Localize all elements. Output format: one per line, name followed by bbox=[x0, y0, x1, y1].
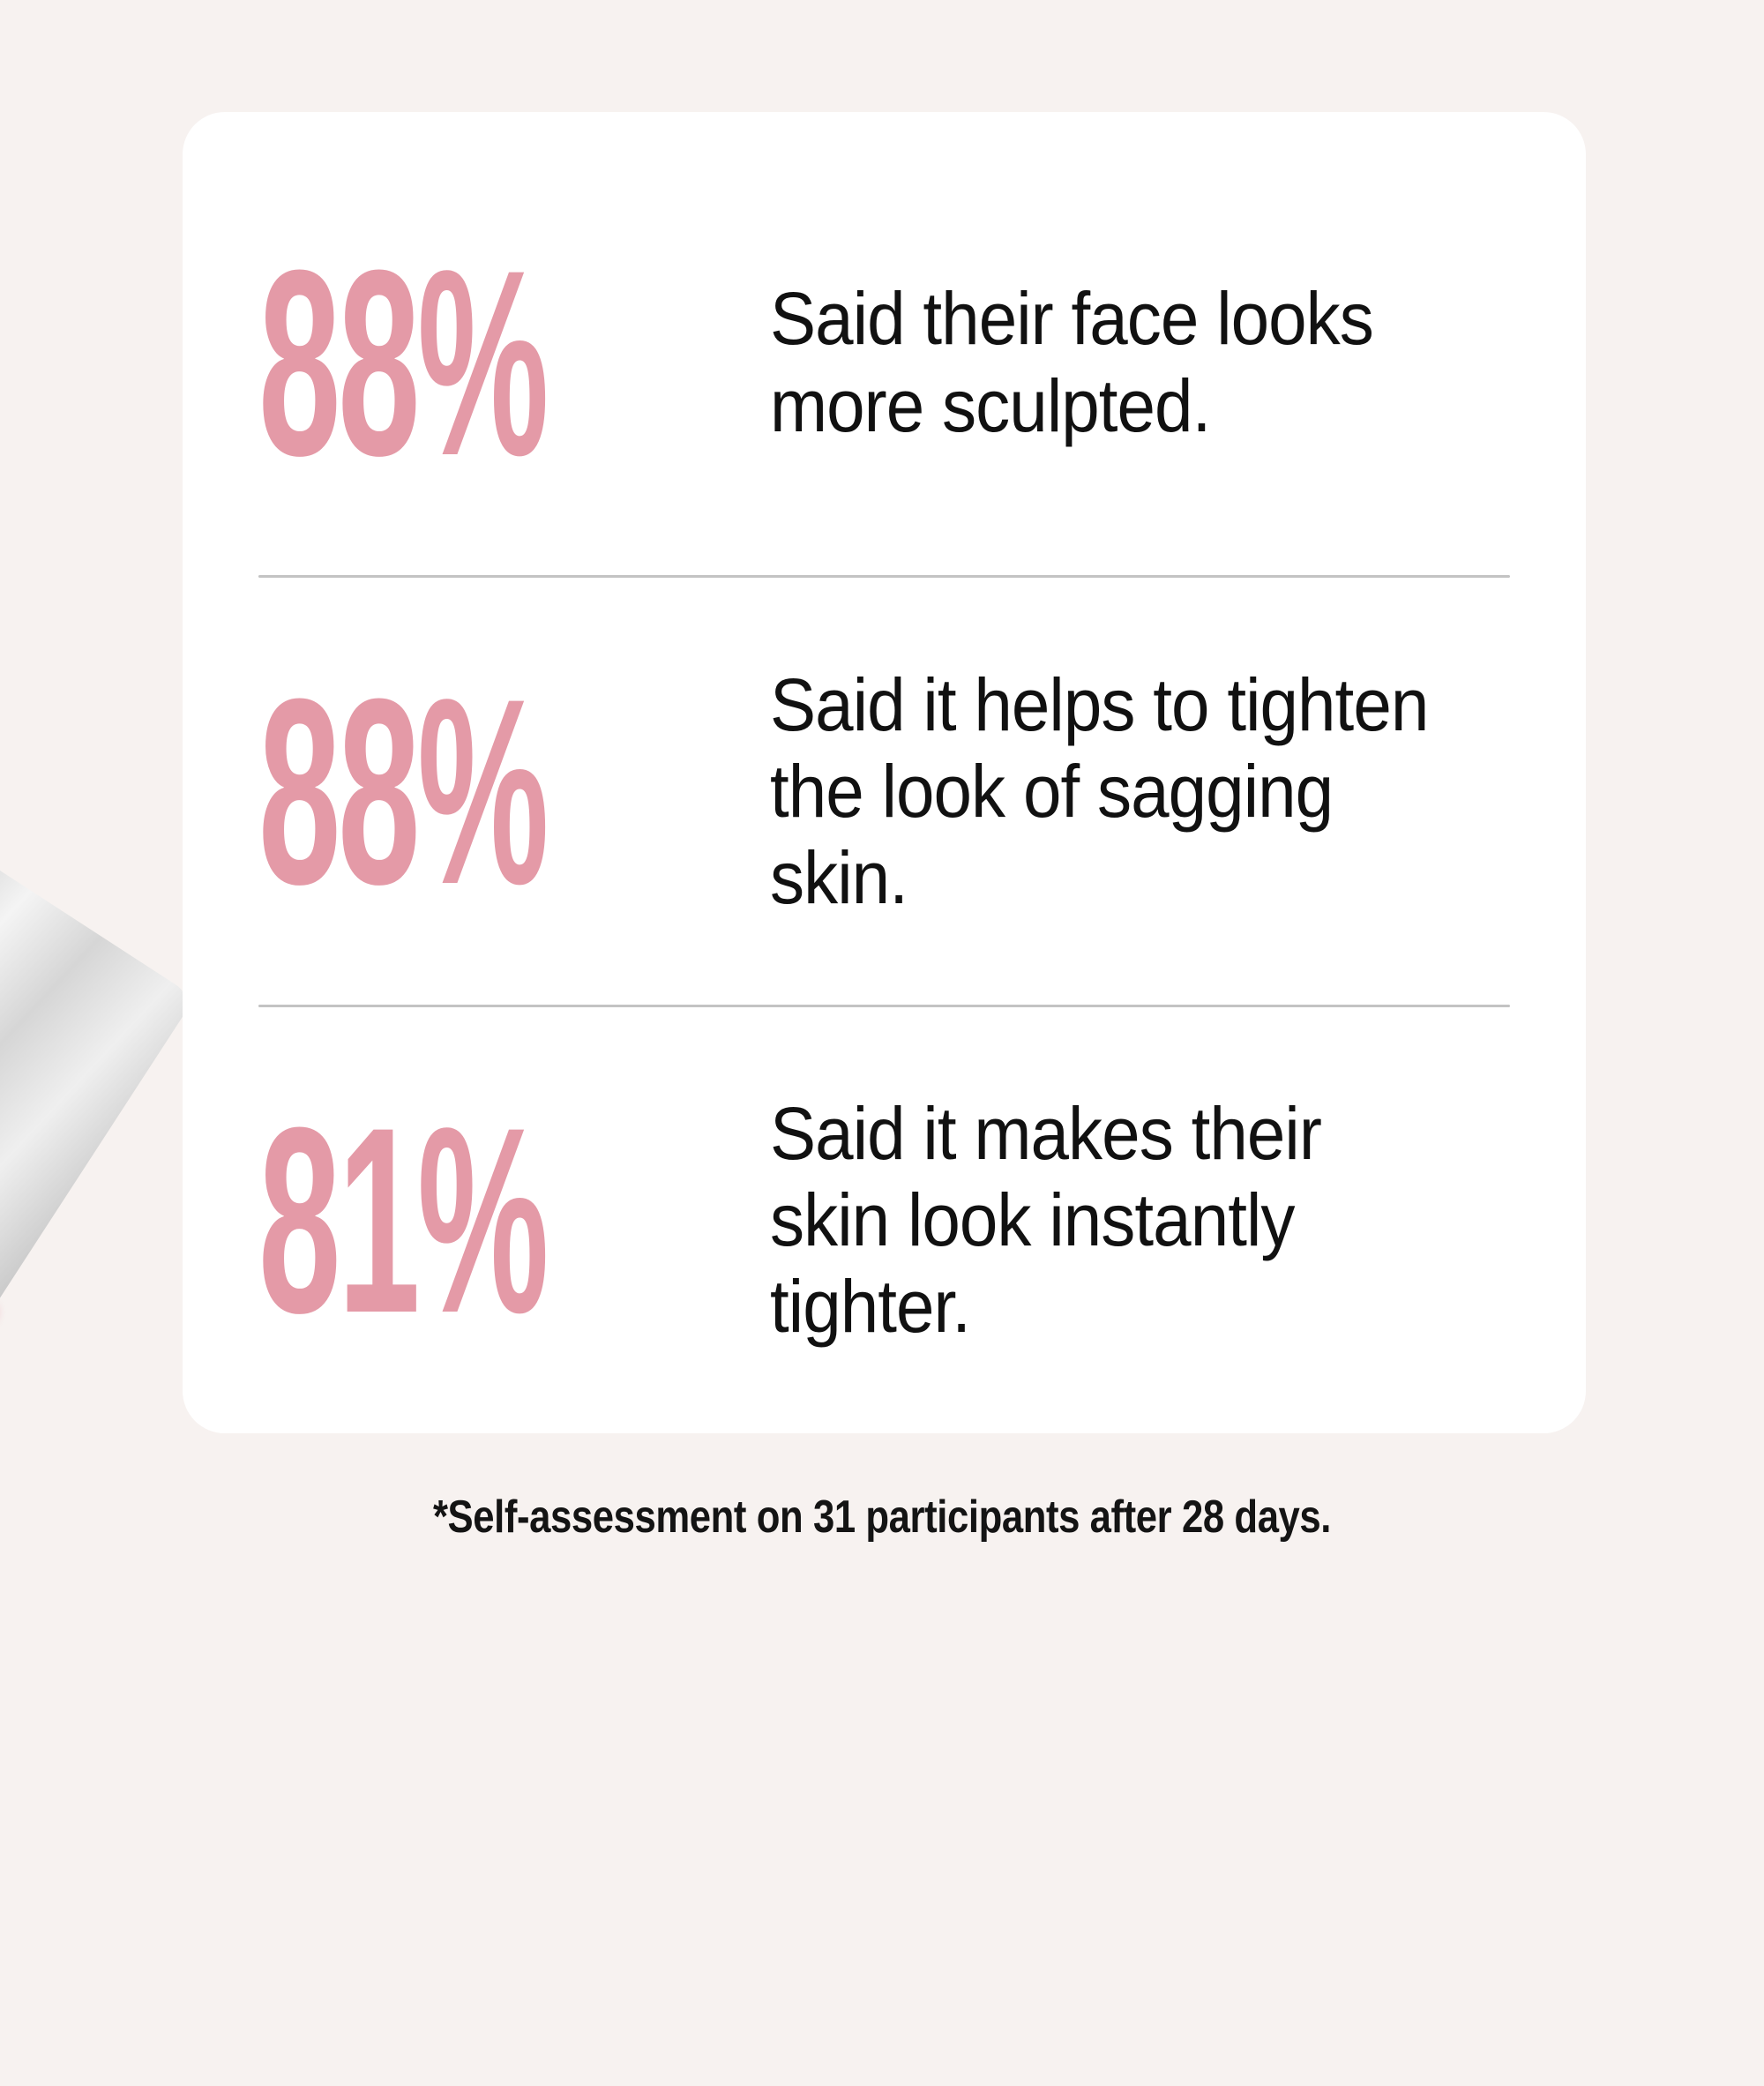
bottle-cap bbox=[0, 748, 195, 1316]
stat-row: 88% Said it helps to tighten the look of… bbox=[258, 578, 1510, 1004]
stat-claim: Said their face looks more sculpted. bbox=[770, 275, 1458, 449]
stat-percent: 88% bbox=[258, 688, 515, 894]
stat-percent: 88% bbox=[258, 259, 515, 466]
stat-claim: Said it makes their skin look instantly … bbox=[770, 1090, 1458, 1350]
bottle-collar bbox=[0, 1049, 4, 1350]
stat-percent: 81% bbox=[258, 1117, 515, 1323]
stats-card: 88% Said their face looks more sculpted.… bbox=[183, 112, 1586, 1433]
stat-row: 88% Said their face looks more sculpted. bbox=[258, 112, 1510, 575]
stat-claim: Said it helps to tighten the look of sag… bbox=[770, 662, 1458, 922]
footnote-disclaimer: *Self-assessment on 31 participants afte… bbox=[141, 1491, 1623, 1544]
stats-list: 88% Said their face looks more sculpted.… bbox=[258, 112, 1510, 1433]
stat-row: 81% Said it makes their skin look instan… bbox=[258, 1007, 1510, 1433]
